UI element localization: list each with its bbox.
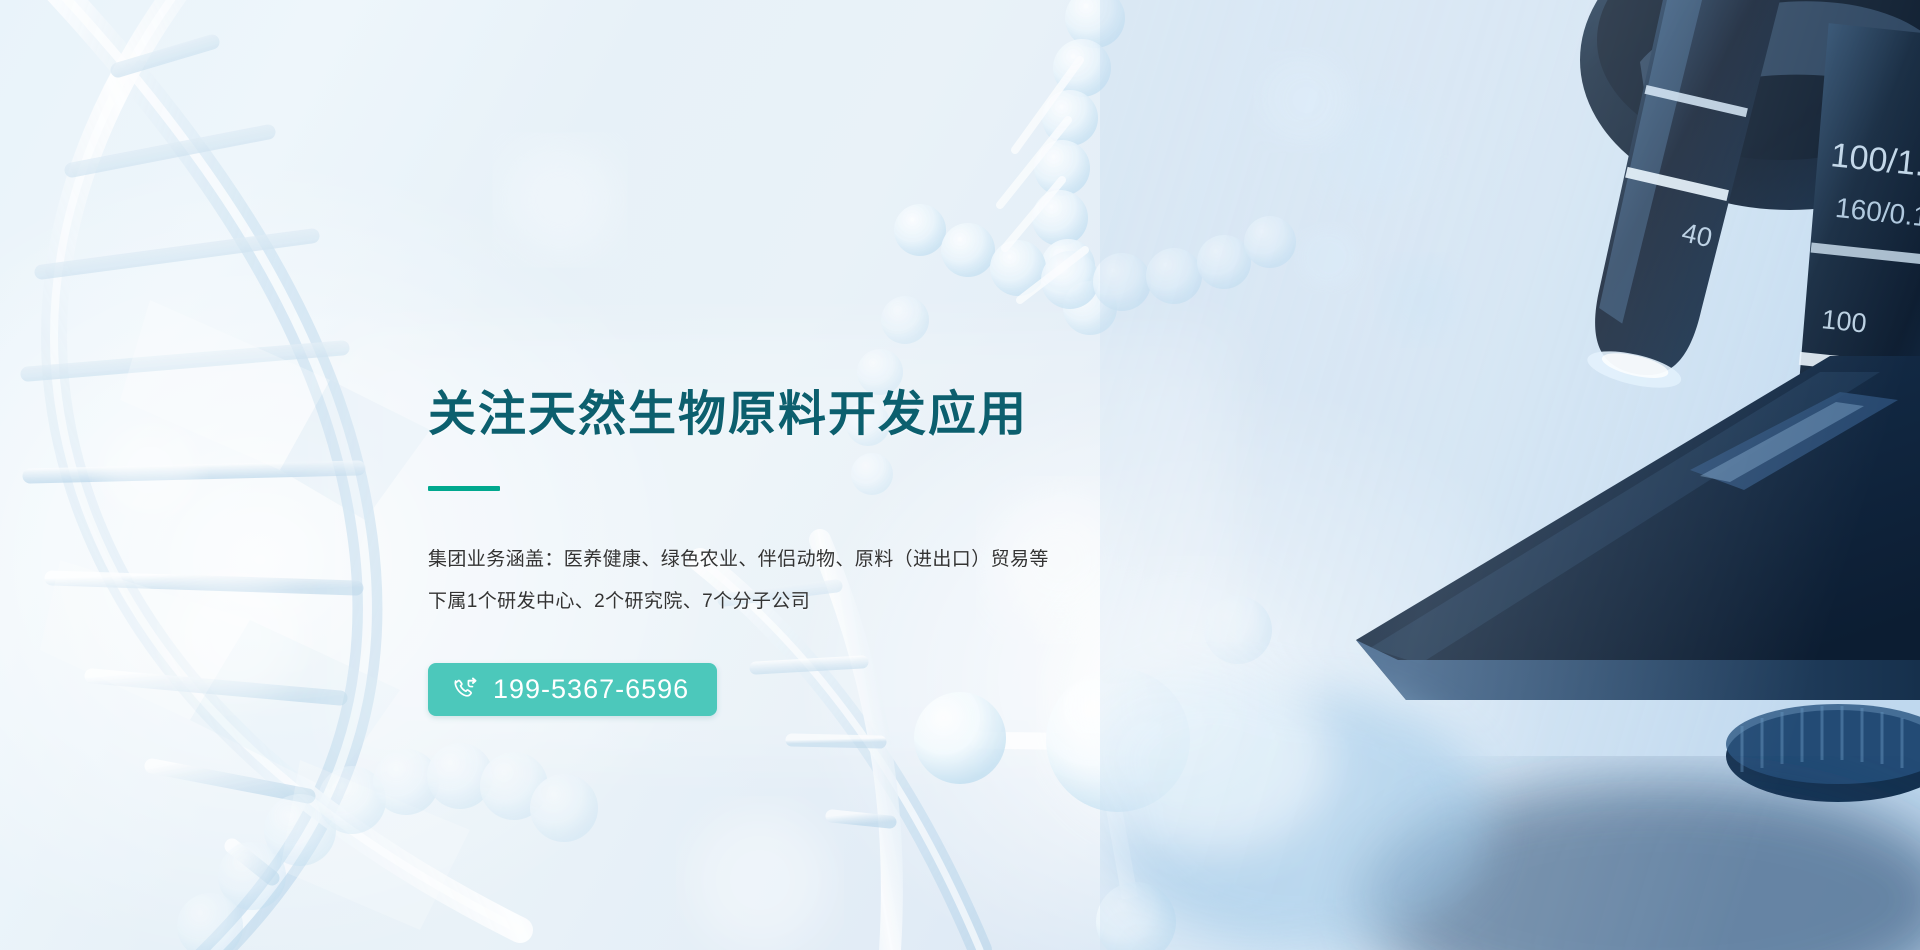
- subtitle-line-1: 集团业务涵盖：医养健康、绿色农业、伴侣动物、原料（进出口）贸易等: [428, 539, 1188, 581]
- svg-text:100/1.25: 100/1.25: [1829, 136, 1920, 188]
- microscope-objective-40: 40: [1576, 0, 1792, 398]
- svg-text:160/0.17: 160/0.17: [1834, 192, 1920, 234]
- phone-number-label: 199-5367-6596: [493, 676, 689, 703]
- subtitle-line-2: 下属1个研发中心、2个研究院、7个分子公司: [428, 581, 1188, 623]
- svg-text:100: 100: [1820, 304, 1868, 339]
- microscope-nosepiece: [1580, 0, 1920, 210]
- phone-cta-button[interactable]: 199-5367-6596: [428, 663, 717, 716]
- dna-bead-chain-faint: [177, 743, 598, 950]
- microscope-stage: [1356, 356, 1920, 950]
- glass-shards: [40, 300, 470, 930]
- hero-banner: 40 100/1.25 160/0.17 100: [0, 0, 1920, 950]
- accent-divider: [428, 486, 500, 491]
- hero-content: 关注天然生物原料开发应用 集团业务涵盖：医养健康、绿色农业、伴侣动物、原料（进出…: [428, 388, 1188, 716]
- svg-text:40: 40: [1679, 217, 1715, 253]
- phone-forward-icon: [452, 676, 479, 703]
- hero-subtitle: 集团业务涵盖：医养健康、绿色农业、伴侣动物、原料（进出口）贸易等 下属1个研发中…: [428, 539, 1188, 623]
- microscope-illustration: 40 100/1.25 160/0.17 100: [1090, 0, 1920, 950]
- microscope-objective-100: 100/1.25 160/0.17 100: [1775, 23, 1920, 553]
- page-title: 关注天然生物原料开发应用: [428, 388, 1188, 442]
